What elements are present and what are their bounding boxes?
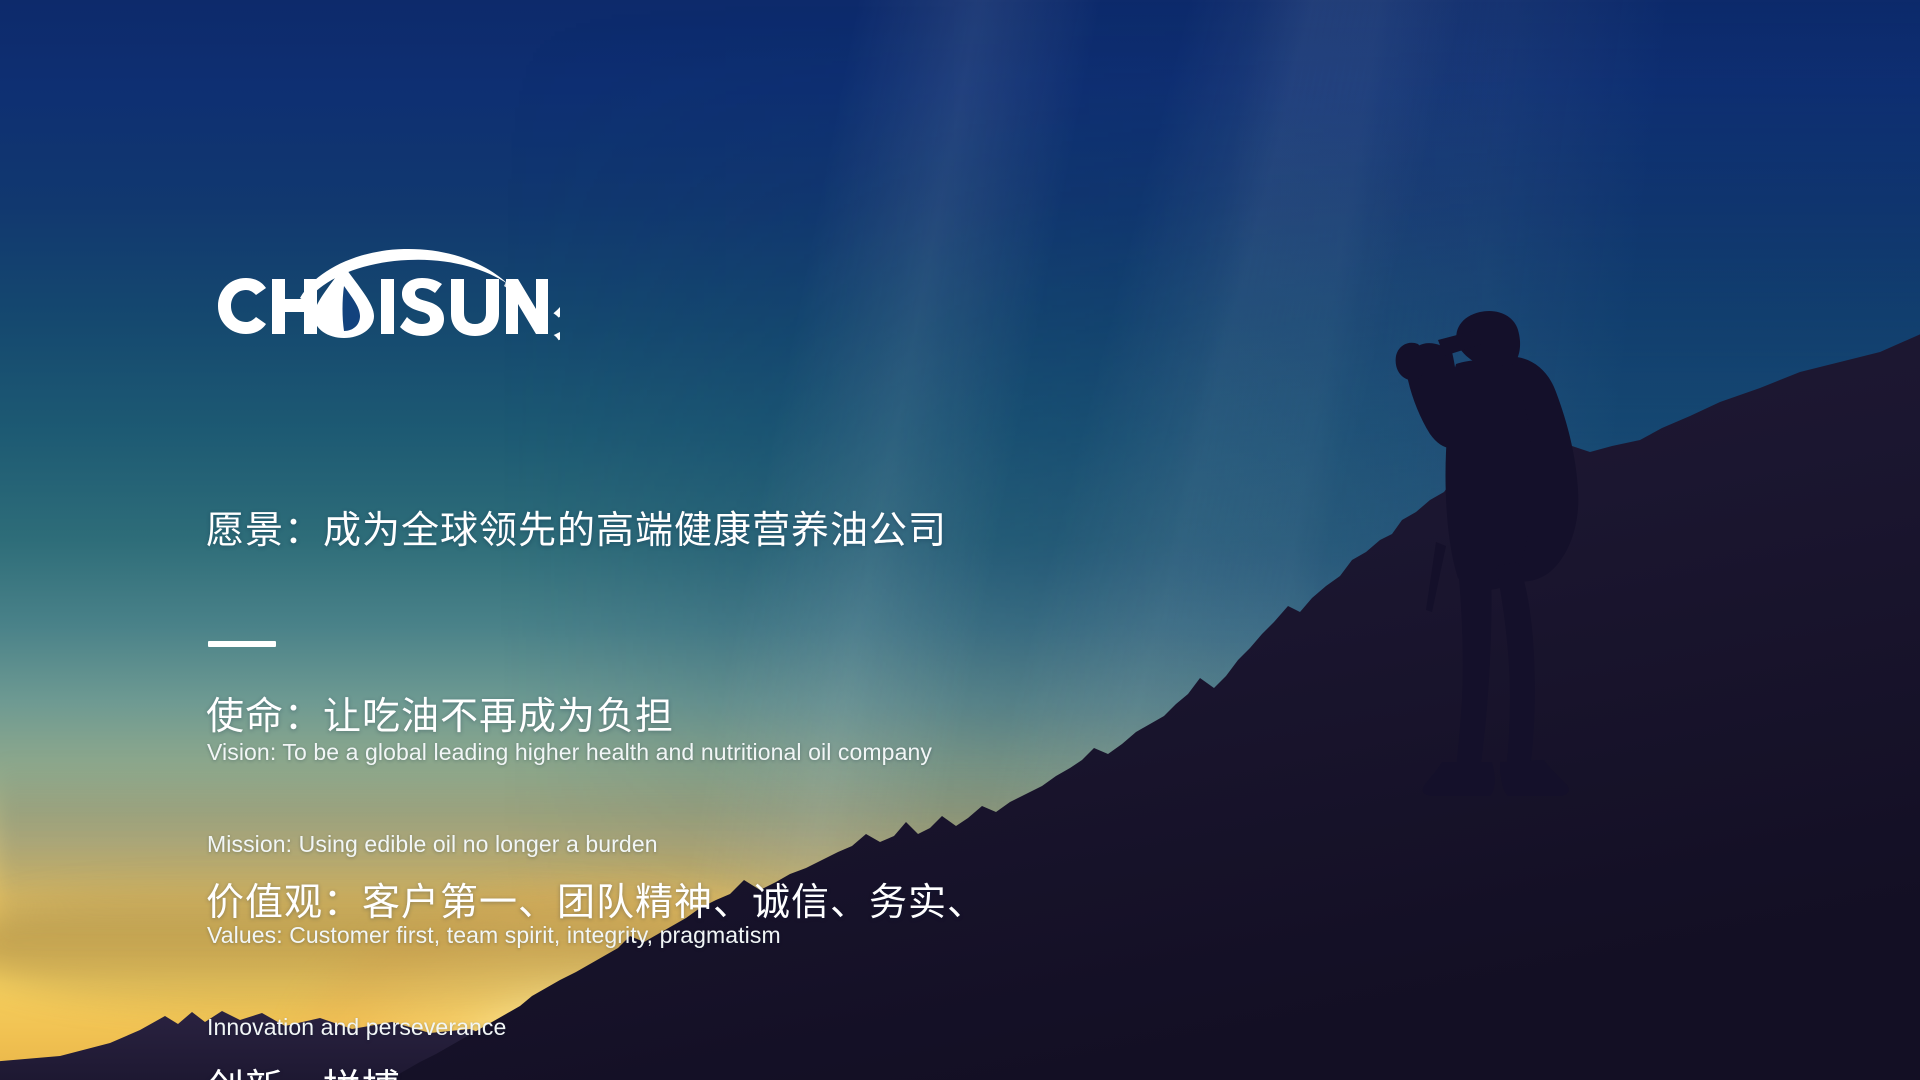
english-statement-block: Vision: To be a global leading higher he… xyxy=(207,676,1207,1080)
vision-line-cn: 愿景：成为全球领先的高端健康营养油公司 xyxy=(206,500,1306,562)
choisun-logo: 久晟 xyxy=(208,246,560,342)
vision-line-en: Vision: To be a global leading higher he… xyxy=(207,737,1207,768)
section-divider xyxy=(208,641,276,647)
slide-canvas: 久晟 愿景：成为全球领先的高端健康营养油公司 使命：让吃油不再成为负担 价值观：… xyxy=(0,0,1920,1080)
logo-cjk-text: 久晟 xyxy=(553,280,560,342)
innovation-line-en: Innovation and perseverance xyxy=(207,1012,1207,1043)
values-line-en: Values: Customer first, team spirit, int… xyxy=(207,920,1207,951)
mission-line-en: Mission: Using edible oil no longer a bu… xyxy=(207,829,1207,860)
